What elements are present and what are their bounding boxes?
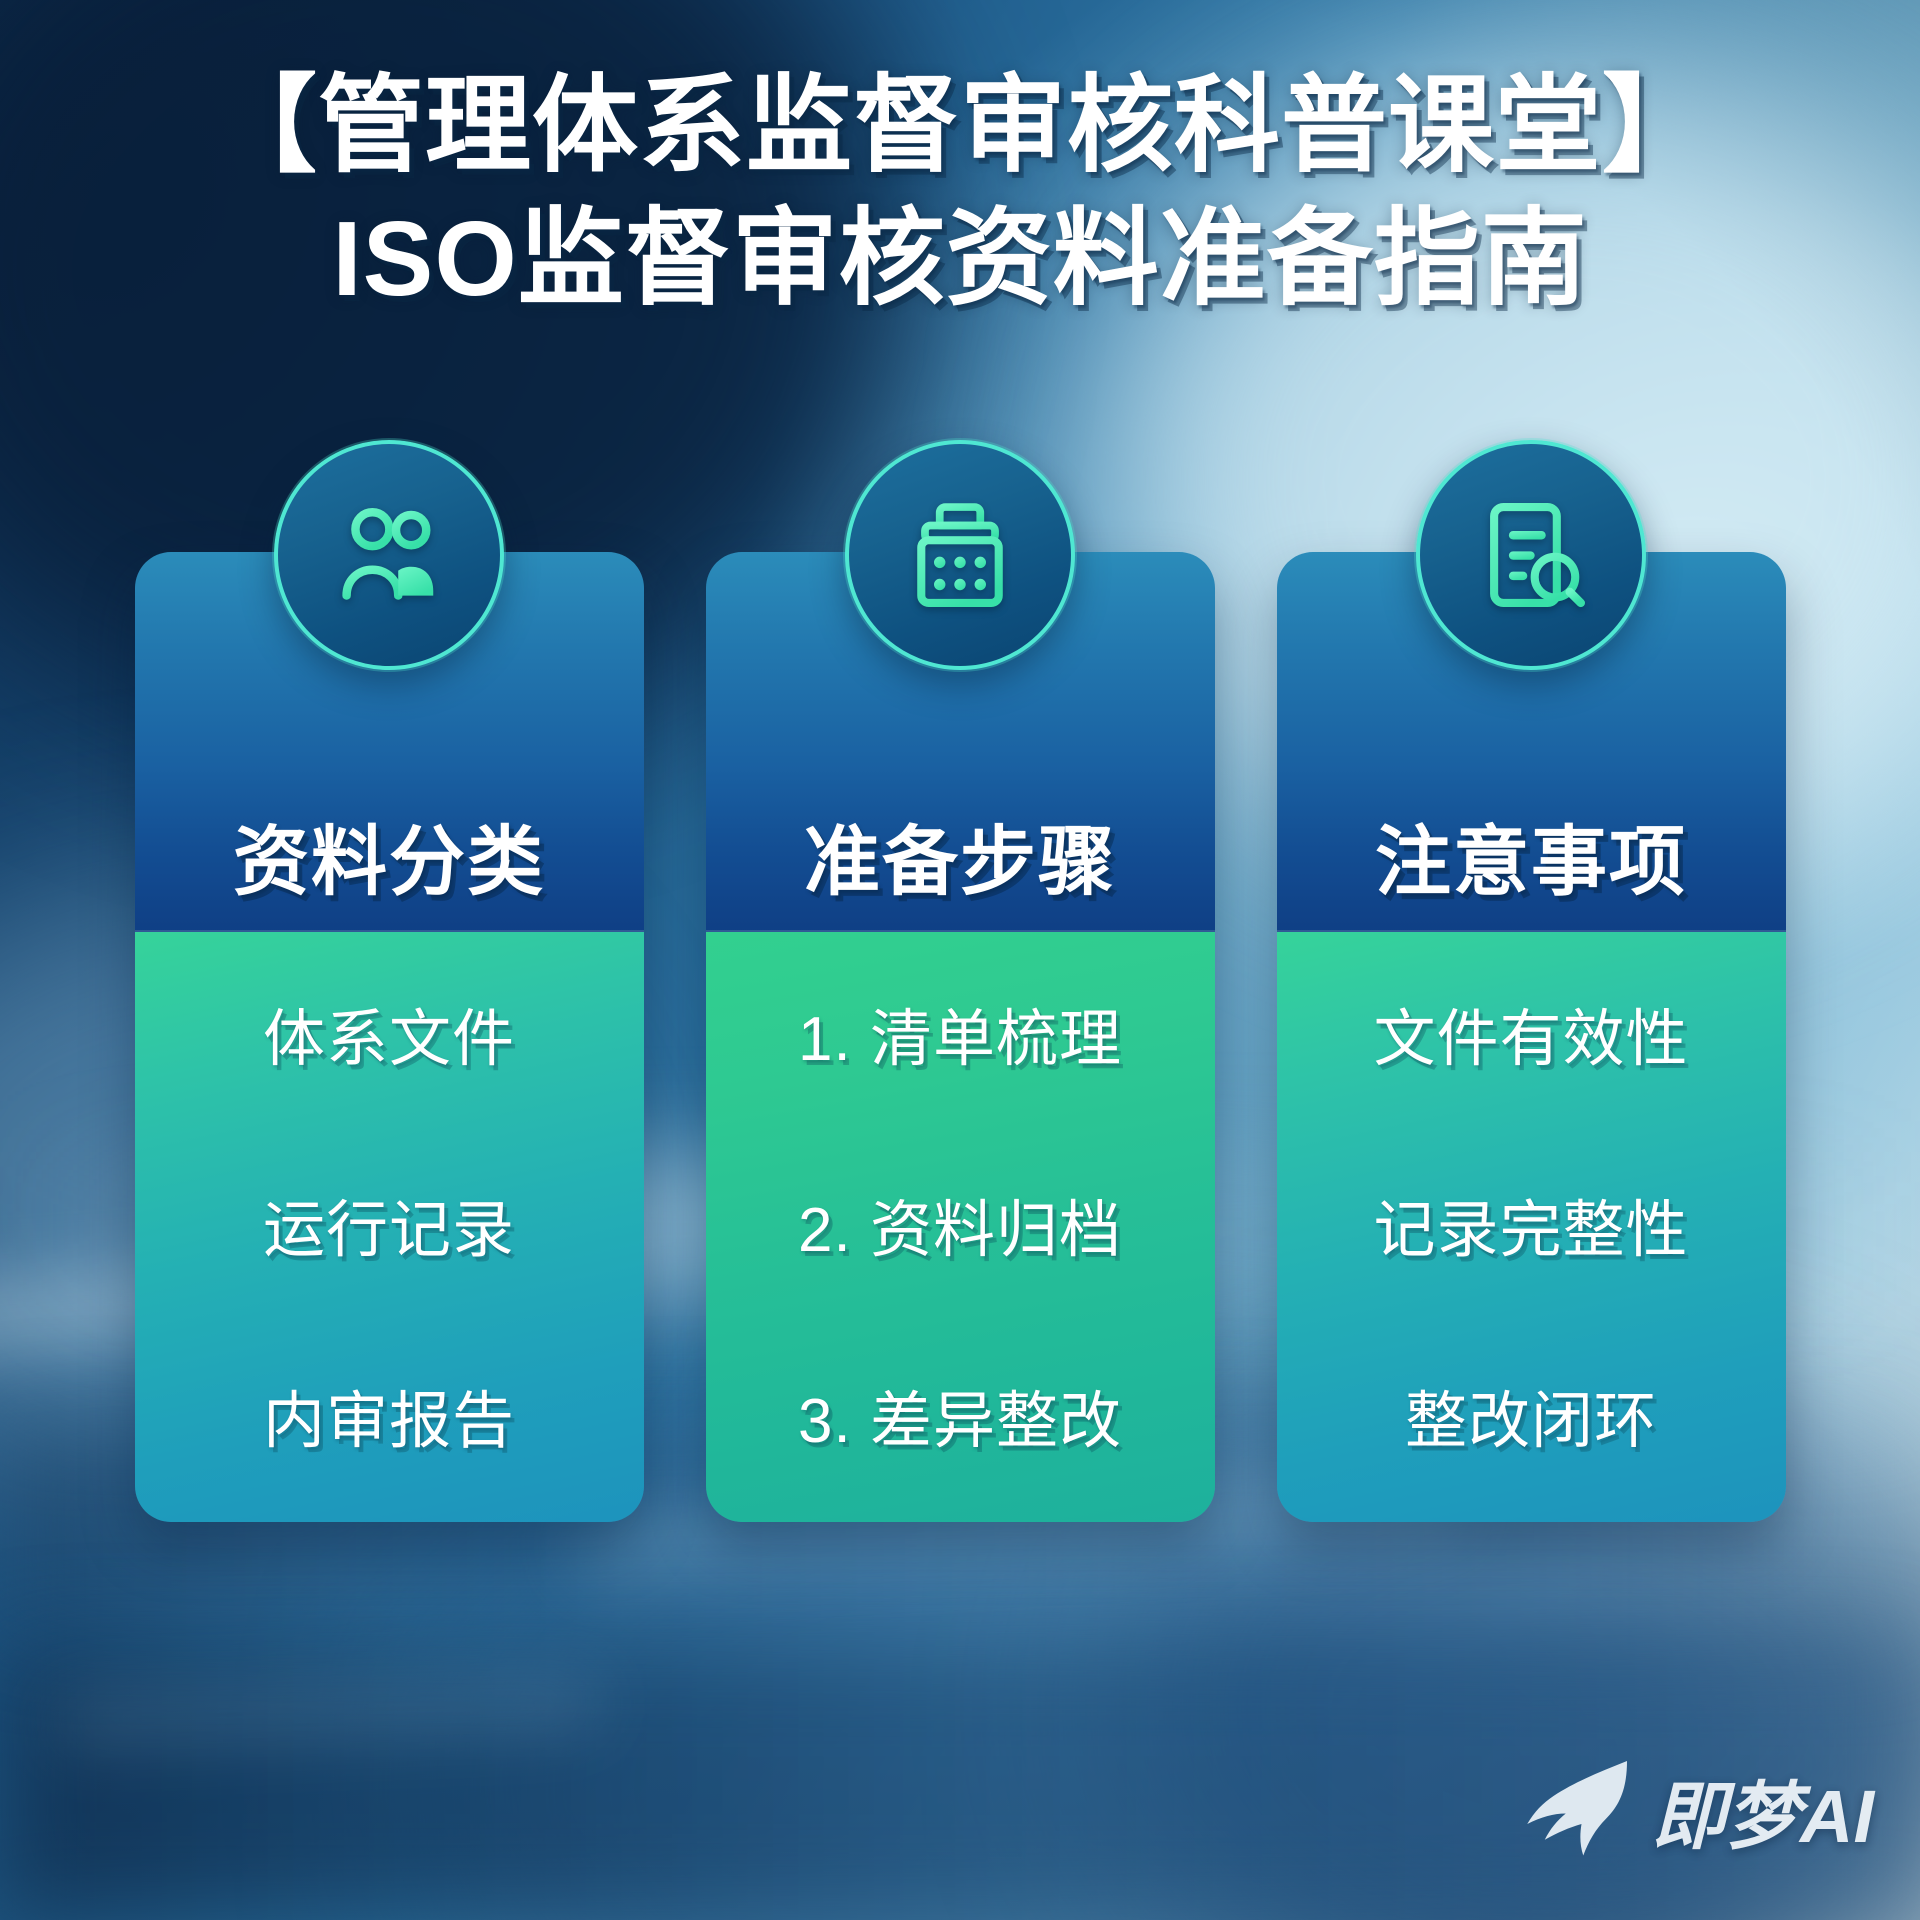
card-body: 1. 清单梳理 2. 资料归档 3. 差异整改 — [706, 932, 1215, 1522]
page-title: 【管理体系监督审核科普课堂】 ISO监督审核资料准备指南 — [0, 62, 1920, 325]
list-item: 运行记录 — [263, 1197, 515, 1265]
card-title: 准备步骤 — [804, 800, 1116, 910]
list-item: 3. 差异整改 — [798, 1388, 1122, 1456]
people-icon — [330, 496, 448, 614]
card-title: 资料分类 — [233, 800, 545, 910]
watermark: 即梦AI — [1522, 1754, 1874, 1866]
list-item: 文件有效性 — [1373, 1006, 1688, 1074]
document-search-icon — [1472, 496, 1590, 614]
card-title: 注意事项 — [1375, 800, 1687, 910]
title-line-1: 【管理体系监督审核科普课堂】 — [60, 62, 1860, 191]
list-item: 1. 清单梳理 — [798, 1006, 1122, 1074]
card-icon-badge — [1416, 440, 1646, 670]
card-inner: 准备步骤 1. 清单梳理 2. 资料归档 3. 差异整改 — [706, 552, 1215, 1522]
clipboard-checklist-icon — [901, 496, 1019, 614]
card-preparation-steps[interactable]: 准备步骤 1. 清单梳理 2. 资料归档 3. 差异整改 — [706, 552, 1215, 1522]
list-item: 体系文件 — [263, 1006, 515, 1074]
list-item: 整改闭环 — [1405, 1388, 1657, 1456]
card-inner: 注意事项 文件有效性 记录完整性 整改闭环 — [1277, 552, 1786, 1522]
card-precautions[interactable]: 注意事项 文件有效性 记录完整性 整改闭环 — [1277, 552, 1786, 1522]
star-spark-icon — [1522, 1754, 1634, 1866]
card-icon-badge — [274, 440, 504, 670]
list-item: 内审报告 — [263, 1388, 515, 1456]
card-body: 文件有效性 记录完整性 整改闭环 — [1277, 932, 1786, 1522]
watermark-text: 即梦AI — [1652, 1757, 1874, 1864]
title-line-2: ISO监督审核资料准备指南 — [60, 195, 1860, 324]
card-icon-badge — [845, 440, 1075, 670]
list-item: 记录完整性 — [1373, 1197, 1688, 1265]
card-inner: 资料分类 体系文件 运行记录 内审报告 — [135, 552, 644, 1522]
card-row: 资料分类 体系文件 运行记录 内审报告 — [0, 552, 1920, 1522]
card-body: 体系文件 运行记录 内审报告 — [135, 932, 644, 1522]
list-item: 2. 资料归档 — [798, 1197, 1122, 1265]
card-data-classification[interactable]: 资料分类 体系文件 运行记录 内审报告 — [135, 552, 644, 1522]
